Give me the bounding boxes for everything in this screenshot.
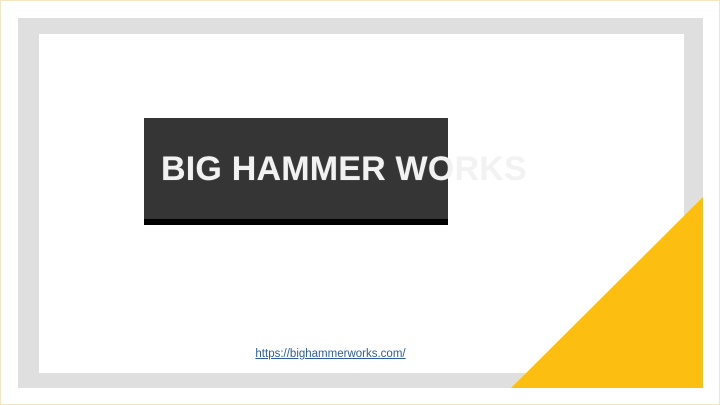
- logo-wordmark: BIG HAMMER WORKS: [161, 118, 431, 219]
- logo-plate-underbar: [144, 219, 448, 225]
- logo-plate: BIG HAMMER WORKS: [144, 118, 448, 225]
- link-row: https://bighammerworks.com/: [39, 344, 622, 362]
- website-link[interactable]: https://bighammerworks.com/: [255, 347, 405, 361]
- slide-canvas: BIG HAMMER WORKS https://bighammerworks.…: [0, 0, 720, 405]
